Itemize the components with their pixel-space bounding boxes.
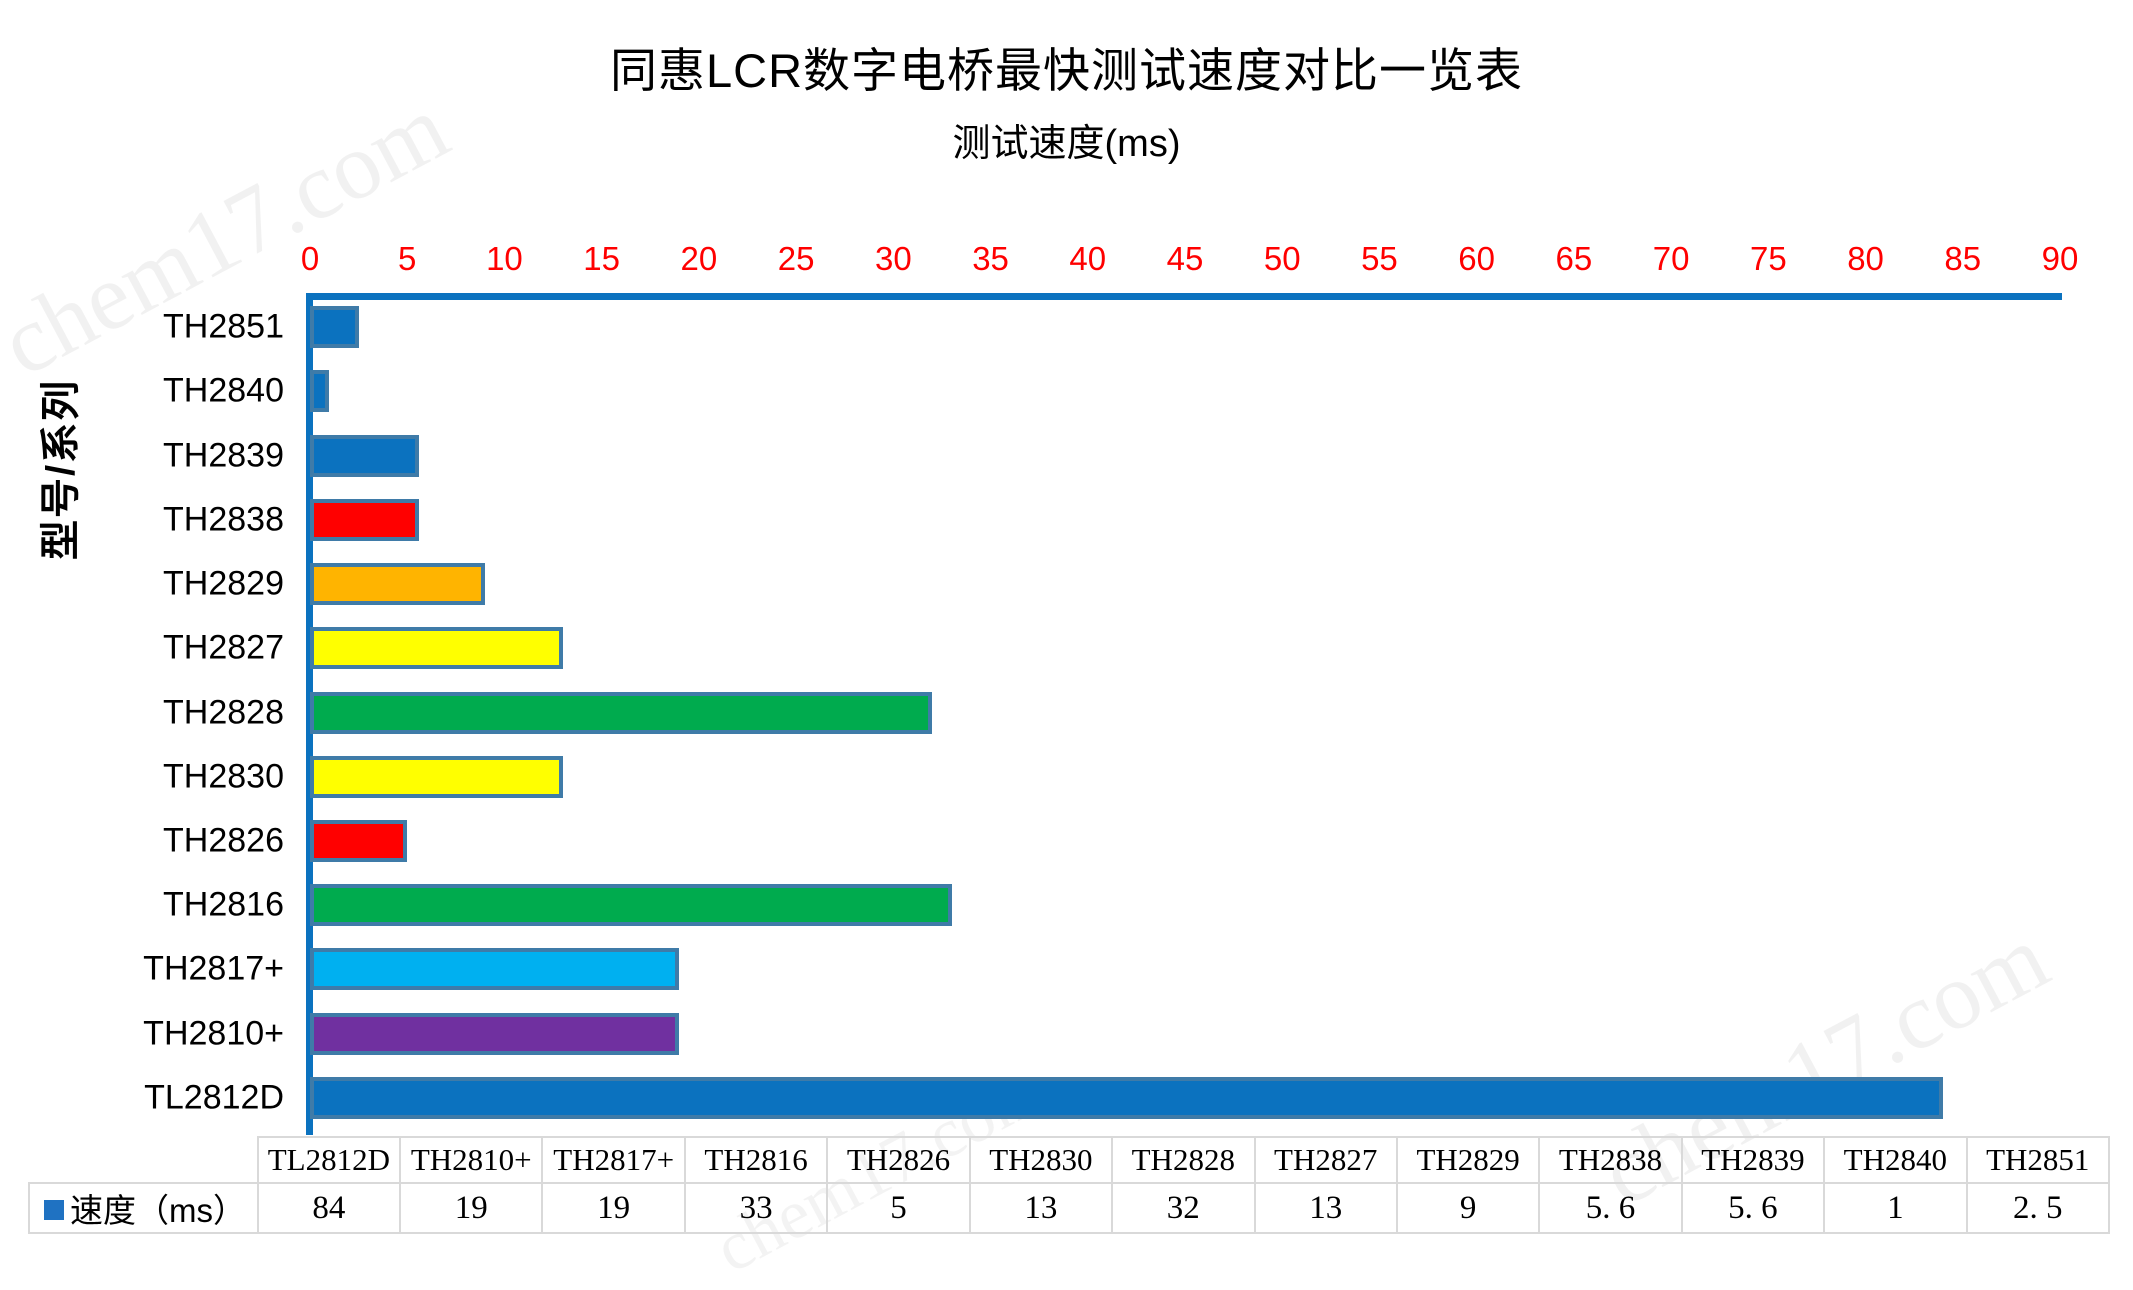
table-cell-TH2827: 13	[1255, 1183, 1397, 1233]
bar-TH2839[interactable]	[310, 435, 419, 477]
table-row-label: 速度（ms）	[29, 1183, 258, 1233]
table-header-TH2826: TH2826	[827, 1137, 969, 1183]
y-category-label-TH2817+: TH2817+	[143, 950, 284, 989]
y-category-label-TH2816: TH2816	[163, 886, 284, 925]
legend-swatch-icon	[44, 1200, 64, 1220]
table-header-TH2810+: TH2810+	[400, 1137, 542, 1183]
bar-TL2812D[interactable]	[310, 1077, 1943, 1119]
x-tick-90: 90	[2042, 240, 2079, 278]
plot-area	[310, 295, 2060, 1130]
table-value-row: 速度（ms） 84191933513321395. 65. 612. 5	[29, 1183, 2109, 1233]
x-tick-25: 25	[778, 240, 815, 278]
table-header-row: TL2812DTH2810+TH2817+TH2816TH2826TH2830T…	[29, 1137, 2109, 1183]
x-tick-75: 75	[1750, 240, 1787, 278]
y-category-label-TH2839: TH2839	[163, 436, 284, 475]
y-category-label-TL2812D: TL2812D	[144, 1078, 284, 1117]
bar-TH2816[interactable]	[310, 884, 952, 926]
table-header-blank-cell	[29, 1137, 258, 1183]
table-row-label-text: 速度（ms）	[70, 1192, 246, 1229]
table-header-TH2817+: TH2817+	[542, 1137, 684, 1183]
x-tick-50: 50	[1264, 240, 1301, 278]
table-header-TH2851: TH2851	[1967, 1137, 2109, 1183]
x-tick-15: 15	[583, 240, 620, 278]
y-category-label-TH2830: TH2830	[163, 757, 284, 796]
table-cell-TH2851: 2. 5	[1967, 1183, 2109, 1233]
table-cell-TL2812D: 84	[258, 1183, 400, 1233]
x-tick-65: 65	[1556, 240, 1593, 278]
table-header-TH2827: TH2827	[1255, 1137, 1397, 1183]
x-axis-tick-labels: 051015202530354045505560657075808590	[310, 240, 2060, 286]
x-tick-85: 85	[1944, 240, 1981, 278]
table-cell-TH2826: 5	[827, 1183, 969, 1233]
x-tick-5: 5	[398, 240, 416, 278]
bar-TH2810+[interactable]	[310, 1013, 679, 1055]
data-table: TL2812DTH2810+TH2817+TH2816TH2826TH2830T…	[28, 1136, 2110, 1234]
chart-title: 同惠LCR数字电桥最快测试速度对比一览表	[0, 32, 2133, 101]
x-tick-35: 35	[972, 240, 1009, 278]
y-category-label-TH2840: TH2840	[163, 372, 284, 411]
bar-TH2840[interactable]	[310, 370, 329, 412]
y-category-label-TH2829: TH2829	[163, 565, 284, 604]
y-category-label-TH2827: TH2827	[163, 629, 284, 668]
y-category-label-TH2826: TH2826	[163, 821, 284, 860]
table-header-TH2828: TH2828	[1112, 1137, 1254, 1183]
chart-subtitle: 测试速度(ms)	[0, 112, 2133, 167]
x-tick-80: 80	[1847, 240, 1884, 278]
table-cell-TH2830: 13	[970, 1183, 1112, 1233]
table-header-TH2816: TH2816	[685, 1137, 827, 1183]
y-category-label-TH2828: TH2828	[163, 693, 284, 732]
table-cell-TH2810+: 19	[400, 1183, 542, 1233]
bar-TH2829[interactable]	[310, 563, 485, 605]
bar-TH2827[interactable]	[310, 627, 563, 669]
x-tick-0: 0	[301, 240, 319, 278]
bar-TH2826[interactable]	[310, 820, 407, 862]
x-tick-45: 45	[1167, 240, 1204, 278]
table-cell-TH2817+: 19	[542, 1183, 684, 1233]
table-cell-TH2829: 9	[1397, 1183, 1539, 1233]
table-header-TH2840: TH2840	[1824, 1137, 1966, 1183]
bar-TH2851[interactable]	[310, 306, 359, 348]
y-category-label-TH2810+: TH2810+	[143, 1014, 284, 1053]
bar-TH2817+[interactable]	[310, 948, 679, 990]
y-axis-category-labels: TH2851TH2840TH2839TH2838TH2829TH2827TH28…	[0, 295, 300, 1130]
table-cell-TH2840: 1	[1824, 1183, 1966, 1233]
x-tick-70: 70	[1653, 240, 1690, 278]
bar-TH2830[interactable]	[310, 756, 563, 798]
table-cell-TH2828: 32	[1112, 1183, 1254, 1233]
table-header-TH2838: TH2838	[1539, 1137, 1681, 1183]
table-header-TH2839: TH2839	[1682, 1137, 1824, 1183]
table-header-TL2812D: TL2812D	[258, 1137, 400, 1183]
y-category-label-TH2838: TH2838	[163, 500, 284, 539]
x-tick-60: 60	[1458, 240, 1495, 278]
table-cell-TH2816: 33	[685, 1183, 827, 1233]
table-header-TH2830: TH2830	[970, 1137, 1112, 1183]
x-tick-40: 40	[1069, 240, 1106, 278]
x-tick-55: 55	[1361, 240, 1398, 278]
x-tick-20: 20	[681, 240, 718, 278]
y-category-label-TH2851: TH2851	[163, 308, 284, 347]
x-tick-30: 30	[875, 240, 912, 278]
table-header-TH2829: TH2829	[1397, 1137, 1539, 1183]
table-cell-TH2838: 5. 6	[1539, 1183, 1681, 1233]
x-tick-10: 10	[486, 240, 523, 278]
table-cell-TH2839: 5. 6	[1682, 1183, 1824, 1233]
bar-TH2828[interactable]	[310, 692, 932, 734]
bar-TH2838[interactable]	[310, 499, 419, 541]
